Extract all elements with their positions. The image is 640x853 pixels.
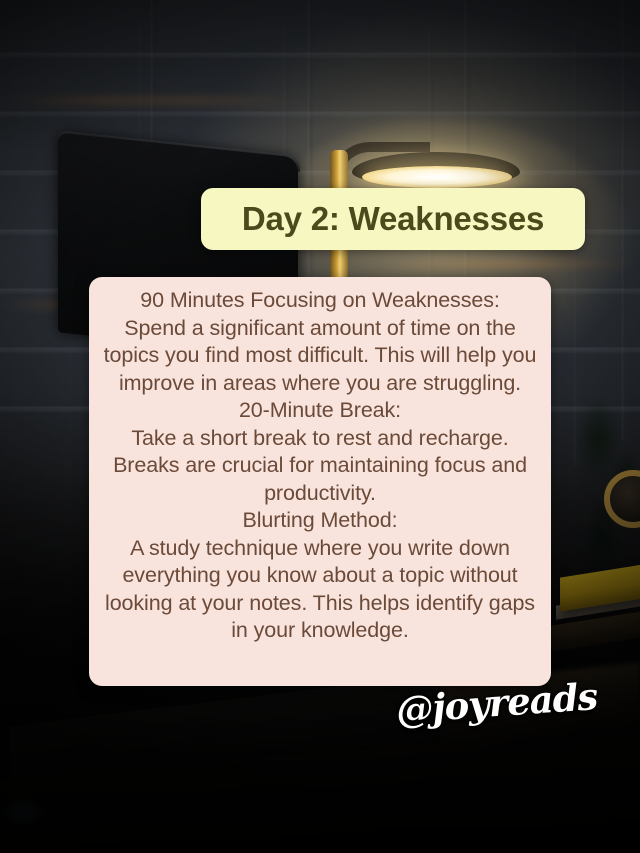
section-heading: Blurting Method:: [101, 507, 539, 535]
content-card: 90 Minutes Focusing on Weaknesses: Spend…: [89, 277, 551, 686]
section-body: Take a short break to rest and recharge.…: [101, 425, 539, 508]
title-banner: Day 2: Weaknesses: [201, 188, 585, 250]
section-break: 20-Minute Break: Take a short break to r…: [101, 397, 539, 507]
section-weaknesses: 90 Minutes Focusing on Weaknesses: Spend…: [101, 287, 539, 397]
section-body: Spend a significant amount of time on th…: [101, 315, 539, 398]
page-title: Day 2: Weaknesses: [242, 200, 544, 238]
section-body: A study technique where you write down e…: [101, 535, 539, 645]
section-heading: 90 Minutes Focusing on Weaknesses:: [101, 287, 539, 315]
section-heading: 20-Minute Break:: [101, 397, 539, 425]
social-post-frame: Day 2: Weaknesses 90 Minutes Focusing on…: [0, 0, 640, 853]
section-blurting: Blurting Method: A study technique where…: [101, 507, 539, 645]
